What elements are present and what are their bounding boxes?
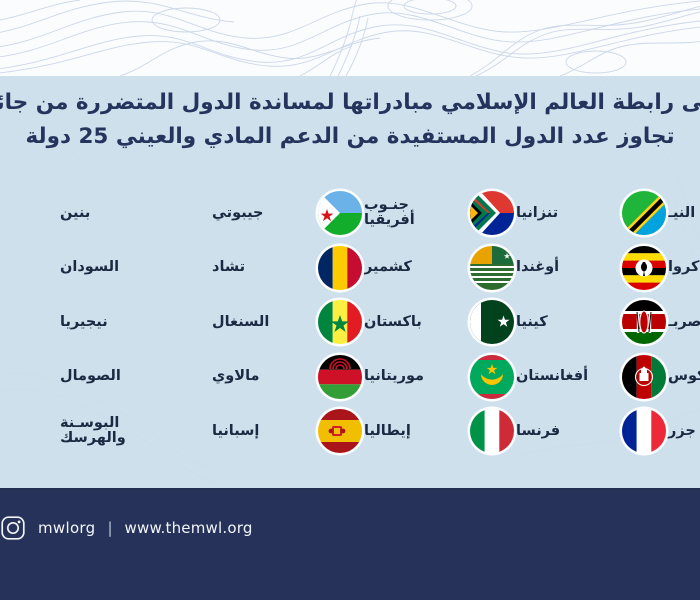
footer-divider — [0, 488, 700, 490]
top-banner — [0, 0, 700, 76]
country-label: السودان — [58, 260, 210, 275]
footer-content: mwlorg | www.themwl.org — [0, 510, 253, 546]
country-label: البوسـنة والهرسك — [58, 416, 210, 446]
list-item[interactable]: تشاد — [210, 246, 362, 290]
country-label: تشاد — [210, 260, 310, 275]
list-item: البوسـنة والهرسك — [58, 416, 210, 446]
country-label: بنين — [58, 206, 210, 221]
country-label: أفغانستان — [514, 369, 614, 384]
headline-line-2: تجاوز عدد الدول المستفيدة من الدعم الماد… — [0, 120, 700, 154]
topographic-contour-pattern — [0, 0, 700, 76]
list-item[interactable]: كوس — [666, 355, 700, 399]
country-label: جيبوتي — [210, 206, 310, 221]
table-row: صربـ كينيا باكستان السنغال — [0, 295, 700, 350]
flag-kenya — [622, 300, 666, 344]
flag-afghanistan — [622, 355, 666, 399]
country-label: جزر — [666, 424, 700, 439]
infographic-poster: ـى رابطة العالم الإسلامي مبادراتها لمسان… — [0, 0, 700, 600]
list-item[interactable]: كينيا — [514, 300, 666, 344]
flag-italy — [470, 409, 514, 453]
list-item[interactable]: تنزانيا — [514, 191, 666, 235]
social-handle[interactable]: mwlorg — [38, 519, 95, 537]
list-item[interactable]: أوغندا — [514, 246, 666, 290]
country-label: إيطاليا — [362, 424, 462, 439]
list-item: السودان — [58, 260, 210, 275]
flag-uganda — [622, 246, 666, 290]
country-label: باكستان — [362, 315, 462, 330]
country-label: الصومال — [58, 369, 210, 384]
flag-france — [622, 409, 666, 453]
country-label: صربـ — [666, 315, 700, 330]
country-label: موريتانيا — [362, 369, 462, 384]
country-label: نيجيريا — [58, 315, 210, 330]
flag-malawi — [318, 355, 362, 399]
country-label: كوس — [666, 369, 700, 384]
list-item: الصومال — [58, 369, 210, 384]
list-item[interactable]: جنـوب أفريقيا — [362, 191, 514, 235]
country-label: كروا — [666, 260, 700, 275]
list-item[interactable]: جزر — [666, 409, 700, 453]
footer-bar: mwlorg | www.themwl.org — [0, 488, 700, 600]
list-item[interactable]: كشمير — [362, 246, 514, 290]
list-item[interactable]: إسبانيا — [210, 409, 362, 453]
country-label: فرنسا — [514, 424, 614, 439]
headline-line-1: ـى رابطة العالم الإسلامي مبادراتها لمسان… — [0, 86, 700, 120]
country-label: مالاوي — [210, 369, 310, 384]
country-label: كشمير — [362, 260, 462, 275]
list-item[interactable]: كروا — [666, 246, 700, 290]
instagram-icon[interactable] — [0, 515, 26, 541]
flag-mauritania — [470, 355, 514, 399]
list-item[interactable]: النيـ — [666, 191, 700, 235]
country-label: كينيا — [514, 315, 614, 330]
list-item[interactable]: إيطاليا — [362, 409, 514, 453]
list-item[interactable]: السنغال — [210, 300, 362, 344]
list-item[interactable]: مالاوي — [210, 355, 362, 399]
flag-south-africa — [470, 191, 514, 235]
list-item[interactable]: موريتانيا — [362, 355, 514, 399]
country-label: إسبانيا — [210, 424, 310, 439]
list-item: بنين — [58, 206, 210, 221]
website-url[interactable]: www.themwl.org — [125, 519, 253, 537]
page-title: ـى رابطة العالم الإسلامي مبادراتها لمسان… — [0, 86, 700, 154]
country-label: النيـ — [666, 206, 700, 221]
country-label: السنغال — [210, 315, 310, 330]
flag-spain — [318, 409, 362, 453]
flag-chad — [318, 246, 362, 290]
flag-pakistan — [470, 300, 514, 344]
list-item: نيجيريا — [58, 315, 210, 330]
table-row: جزر فرنسا إيطاليا إسبانيا — [0, 404, 700, 459]
list-item[interactable]: صربـ — [666, 300, 700, 344]
list-item[interactable]: أفغانستان — [514, 355, 666, 399]
country-grid: النيـ تنزانيا جنـوب أفريقيا جيبوتي — [0, 186, 700, 459]
table-row: كوس أفغانستان موريتانيا مالاوي — [0, 350, 700, 405]
flag-djibouti — [318, 191, 362, 235]
table-row: النيـ تنزانيا جنـوب أفريقيا جيبوتي — [0, 186, 700, 241]
list-item[interactable]: فرنسا — [514, 409, 666, 453]
footer-separator: | — [107, 519, 112, 537]
flag-senegal — [318, 300, 362, 344]
country-label: جنـوب أفريقيا — [362, 198, 462, 228]
list-item[interactable]: باكستان — [362, 300, 514, 344]
flag-kashmir — [470, 246, 514, 290]
country-label: تنزانيا — [514, 206, 614, 221]
country-label: أوغندا — [514, 260, 614, 275]
list-item[interactable]: جيبوتي — [210, 191, 362, 235]
flag-tanzania — [622, 191, 666, 235]
table-row: كروا أوغندا كشمير تشاد ال — [0, 241, 700, 296]
